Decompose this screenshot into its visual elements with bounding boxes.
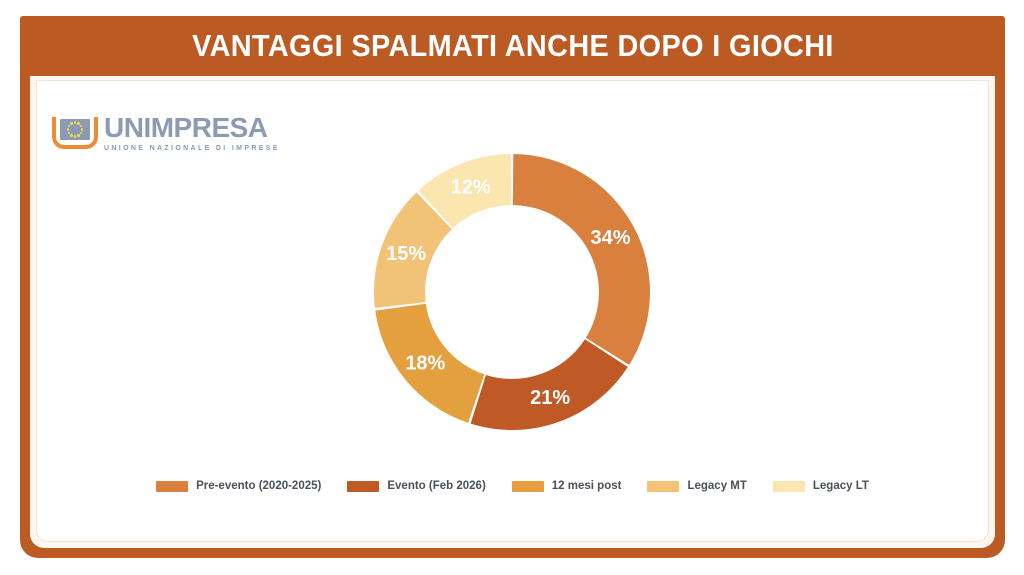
eu-stars-box: [60, 119, 90, 140]
legend-item-label: Evento (Feb 2026): [387, 480, 485, 492]
slice-percentage-label: 34%: [591, 227, 631, 249]
legend-item-label: Legacy MT: [687, 480, 746, 492]
header-bar: VANTAGGI SPALMATI ANCHE DOPO I GIOCHI: [20, 16, 1005, 76]
donut-chart: 34%21%18%15%12%: [372, 152, 652, 432]
slice-percentage-label: 18%: [405, 353, 445, 375]
eu-star-icon: [81, 128, 83, 130]
legend-color-swatch: [773, 481, 805, 492]
legend-item[interactable]: Evento (Feb 2026): [347, 480, 485, 492]
eu-star-icon: [74, 121, 76, 123]
eu-star-icon: [77, 134, 79, 136]
unimpresa-logo: UNIMPRESA UNIONE NAZIONALE DI IMPRESE: [52, 112, 280, 154]
logo-wordmark: UNIMPRESA UNIONE NAZIONALE DI IMPRESE: [104, 114, 280, 152]
slice-percentage-label: 12%: [451, 176, 491, 198]
legend-item[interactable]: Legacy LT: [773, 480, 869, 492]
legend-color-swatch: [512, 481, 544, 492]
donut-chart-svg: 34%21%18%15%12%: [372, 152, 652, 432]
legend-color-swatch: [647, 481, 679, 492]
legend-item[interactable]: Pre-evento (2020-2025): [156, 480, 321, 492]
legend-item-label: Legacy LT: [813, 480, 869, 492]
eu-star-icon: [67, 128, 69, 130]
eu-star-icon: [80, 132, 82, 134]
eu-star-icon: [70, 122, 72, 124]
donut-slice[interactable]: [471, 339, 628, 430]
slide-root: VANTAGGI SPALMATI ANCHE DOPO I GIOCHI UN…: [0, 0, 1024, 575]
legend-item[interactable]: Legacy MT: [647, 480, 746, 492]
logo-tagline: UNIONE NAZIONALE DI IMPRESE: [104, 145, 280, 152]
eu-flag-bracket-icon: [52, 115, 98, 151]
page-title: VANTAGGI SPALMATI ANCHE DOPO I GIOCHI: [192, 28, 834, 64]
eu-star-icon: [68, 125, 70, 127]
slice-percentage-label: 15%: [386, 243, 426, 265]
eu-star-icon: [70, 134, 72, 136]
slice-percentage-label: 21%: [530, 387, 570, 409]
donut-slice[interactable]: [513, 154, 650, 365]
legend-color-swatch: [156, 481, 188, 492]
logo-name: UNIMPRESA: [104, 114, 280, 142]
legend-item[interactable]: 12 mesi post: [512, 480, 622, 492]
eu-star-icon: [80, 125, 82, 127]
legend-item-label: Pre-evento (2020-2025): [196, 480, 321, 492]
eu-star-icon: [74, 135, 76, 137]
legend-color-swatch: [347, 481, 379, 492]
legend-item-label: 12 mesi post: [552, 480, 622, 492]
chart-legend: Pre-evento (2020-2025)Evento (Feb 2026)1…: [36, 480, 989, 492]
